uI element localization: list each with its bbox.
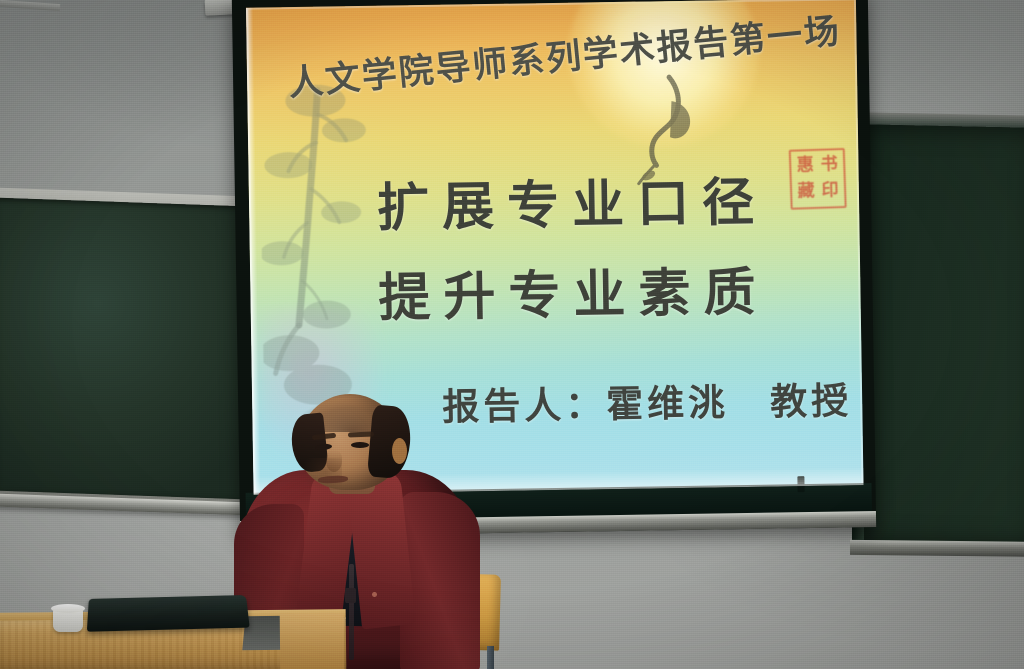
slide-title: 人文学院导师系列学术报告第一场: [286, 2, 848, 106]
podium-right-panel: [280, 613, 345, 669]
left-chalkboard: [0, 187, 250, 511]
presenter-jacket-detail: [372, 592, 377, 597]
lecture-hall-photo: 惠 书 藏 印 人文学院导师系列学术报告第一场 扩展专业口径 提升专业素质 报告…: [0, 0, 1024, 669]
presenter-right-shoulder: [400, 492, 480, 669]
chalkboard-surface: [0, 198, 249, 500]
right-chalkboard: [862, 124, 1024, 548]
presenter-jacket-zipper: [349, 564, 354, 660]
slide-headline-line2: 提升专业素质: [378, 248, 849, 330]
presenter-ear: [392, 438, 407, 464]
presenter-eyebrow-right: [348, 432, 374, 438]
chalkboard-surface: [862, 124, 1024, 548]
slide-speaker-line: 报告人：霍维洮 教授: [442, 370, 864, 431]
presenter-eye-right: [351, 442, 369, 448]
paper-cup-lid: [51, 604, 85, 613]
laptop-on-podium: [87, 595, 250, 632]
chair-leg-right: [487, 646, 494, 669]
presenter-nose: [326, 450, 342, 472]
chalk-tray: [850, 540, 1024, 557]
slide-headline-line1: 扩展专业口径: [376, 158, 847, 240]
presenter-hair-right: [367, 404, 413, 479]
presenter-zipper-pull: [345, 588, 356, 603]
